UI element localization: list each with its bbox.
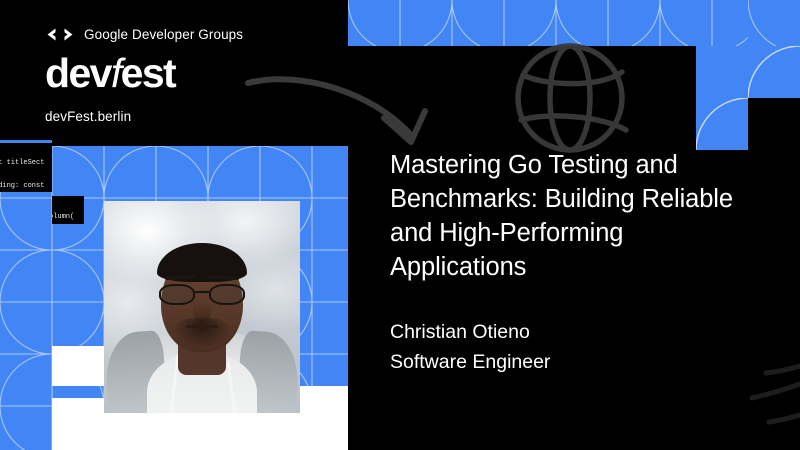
grid-arc-pattern-icon bbox=[748, 0, 800, 46]
wordmark-lead: dev bbox=[45, 50, 111, 96]
decor-blue-square-top-right bbox=[748, 0, 800, 46]
speaker-block: Christian Otieno Software Engineer bbox=[390, 318, 740, 377]
portrait-lens-right bbox=[209, 284, 245, 305]
slide-canvas: et titleSect dding: const ld: Row( child… bbox=[0, 0, 800, 450]
devfest-wordmark: devfest bbox=[45, 53, 345, 94]
code-overlay-block-b: olumn( xisAl bbox=[52, 196, 84, 224]
grid-arc-pattern-icon bbox=[748, 46, 800, 98]
code-line: et titleSect bbox=[0, 160, 52, 168]
portrait-lens-left bbox=[159, 284, 195, 305]
decor-blue-square-d bbox=[696, 98, 748, 150]
wordmark-tail: est bbox=[121, 50, 175, 96]
event-site-label: devFest.berlin bbox=[45, 109, 345, 124]
globe-sketch-icon bbox=[518, 46, 626, 150]
decor-white-block-small bbox=[52, 346, 104, 386]
portrait-mouth bbox=[186, 325, 217, 328]
speaker-name: Christian Otieno bbox=[390, 321, 530, 343]
talk-title: Mastering Go Testing and Benchmarks: Bui… bbox=[390, 148, 740, 285]
decor-blue-square-b bbox=[696, 46, 748, 98]
brand-lockup: Google Developer Groups devfest devFest.… bbox=[45, 24, 345, 124]
grid-arc-pattern-icon bbox=[696, 98, 748, 150]
decor-blue-band-top bbox=[348, 0, 748, 46]
code-overlay-block-a: et titleSect dding: const ld: Row( child… bbox=[0, 143, 52, 192]
portrait-nose bbox=[193, 301, 211, 322]
grid-arc-pattern-icon bbox=[348, 0, 748, 46]
gdg-row: Google Developer Groups bbox=[45, 24, 345, 44]
speaker-role: Software Engineer bbox=[390, 348, 740, 378]
code-chevrons-icon bbox=[45, 27, 75, 42]
code-line: dding: const bbox=[0, 183, 52, 191]
portrait-beard bbox=[173, 318, 232, 348]
speaker-portrait bbox=[104, 201, 300, 413]
speed-lines-sketch-icon bbox=[752, 366, 800, 422]
code-line: olumn( bbox=[52, 214, 84, 222]
gdg-label: Google Developer Groups bbox=[84, 27, 243, 42]
wordmark-italic-f: f bbox=[111, 50, 121, 96]
portrait-glasses-bridge bbox=[195, 291, 209, 294]
decor-blue-square-c bbox=[748, 46, 800, 98]
